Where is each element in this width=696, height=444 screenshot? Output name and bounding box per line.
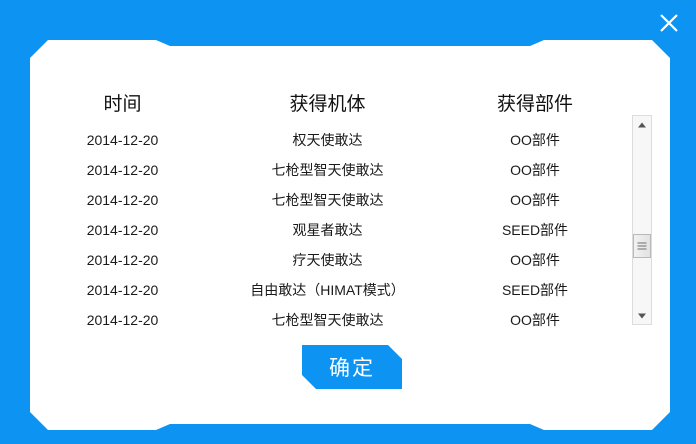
cell-part: SEED部件 (440, 275, 630, 305)
chevron-down-icon (638, 313, 646, 318)
cell-part: OO部件 (440, 125, 630, 155)
table-row[interactable]: 2014-12-20自由敢达（HIMAT模式）SEED部件 (30, 275, 630, 305)
scrollbar-down-button[interactable] (633, 307, 651, 324)
cell-mech: 七枪型智天使敢达 (215, 185, 440, 215)
cell-time: 2014-12-20 (30, 305, 215, 335)
close-button[interactable] (654, 8, 684, 38)
table-row[interactable]: 2014-12-20疗天使敢达OO部件 (30, 245, 630, 275)
column-header-time: 时间 (30, 90, 215, 120)
cell-part: SEED部件 (440, 215, 630, 245)
cell-mech: 七枪型智天使敢达 (215, 305, 440, 335)
cell-time: 2014-12-20 (30, 245, 215, 275)
table-row[interactable]: 2014-12-20七枪型智天使敢达OO部件 (30, 155, 630, 185)
cell-part: OO部件 (440, 305, 630, 335)
grip-icon (638, 241, 647, 252)
close-icon (654, 8, 684, 38)
cell-time: 2014-12-20 (30, 155, 215, 185)
cell-time: 2014-12-20 (30, 125, 215, 155)
cell-part: OO部件 (440, 155, 630, 185)
cell-time: 2014-12-20 (30, 275, 215, 305)
scrollbar-thumb[interactable] (633, 234, 651, 258)
scrollbar-up-button[interactable] (633, 116, 651, 133)
table-row[interactable]: 2014-12-20观星者敢达SEED部件 (30, 215, 630, 245)
cell-mech: 自由敢达（HIMAT模式） (215, 275, 440, 305)
table-row[interactable]: 2014-12-20七枪型智天使敢达OO部件 (30, 185, 630, 215)
table-row[interactable]: 2014-12-20权天使敢达OO部件 (30, 125, 630, 155)
confirm-button[interactable]: 确定 (302, 345, 402, 389)
cell-time: 2014-12-20 (30, 185, 215, 215)
table-body[interactable]: 2014-12-20权天使敢达OO部件2014-12-20七枪型智天使敢达OO部… (30, 125, 630, 340)
chevron-up-icon (638, 122, 646, 127)
scrollbar[interactable] (632, 115, 652, 325)
cell-part: OO部件 (440, 245, 630, 275)
table-header-row: 时间 获得机体 获得部件 (30, 90, 630, 120)
cell-mech: 疗天使敢达 (215, 245, 440, 275)
cell-mech: 七枪型智天使敢达 (215, 155, 440, 185)
dialog-panel: 时间 获得机体 获得部件 2014-12-20权天使敢达OO部件2014-12-… (30, 40, 670, 430)
cell-part: OO部件 (440, 185, 630, 215)
column-header-part: 获得部件 (440, 90, 630, 120)
cell-mech: 权天使敢达 (215, 125, 440, 155)
table-row[interactable]: 2014-12-20七枪型智天使敢达OO部件 (30, 305, 630, 335)
cell-mech: 观星者敢达 (215, 215, 440, 245)
cell-time: 2014-12-20 (30, 215, 215, 245)
column-header-mech: 获得机体 (215, 90, 440, 120)
